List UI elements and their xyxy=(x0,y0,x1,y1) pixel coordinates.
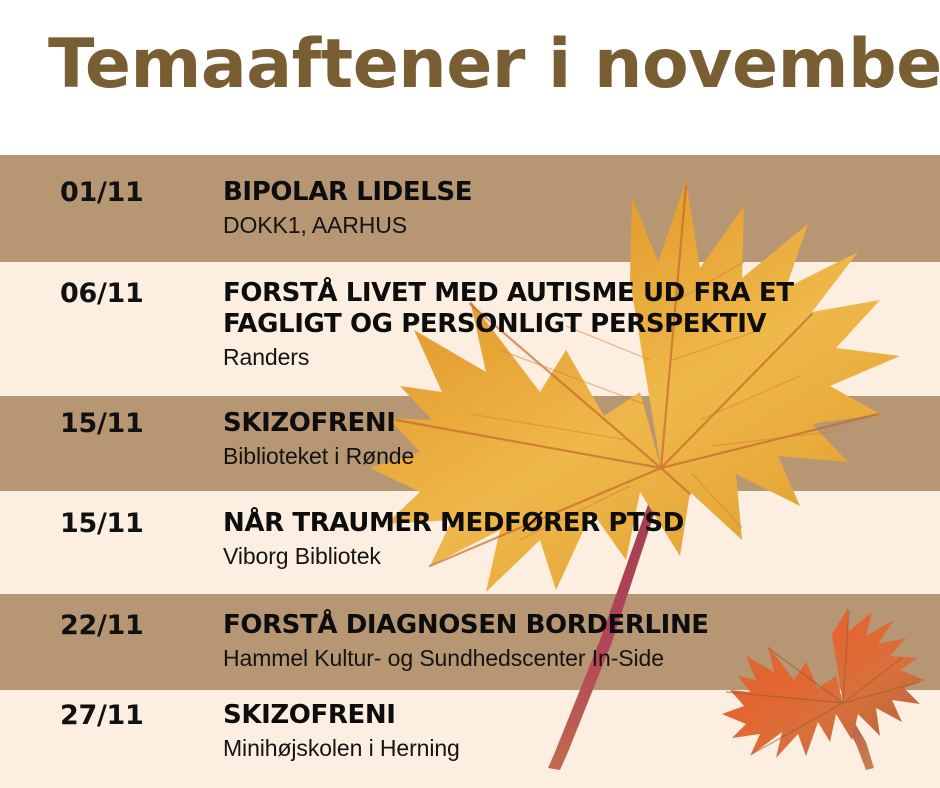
schedule-text-layer: 01/11 BIPOLAR LIDELSE DOKK1, AARHUS 06/1… xyxy=(0,0,940,788)
event-details: SKIZOFRENI Minihøjskolen i Herning xyxy=(223,700,930,763)
event-date: 15/11 xyxy=(60,508,210,539)
poster-canvas: Temaaftener i november 01/11 BIPOLAR LID… xyxy=(0,0,940,788)
event-venue: Randers xyxy=(223,343,930,372)
event-details: FORSTÅ LIVET MED AUTISME UD FRA ET FAGLI… xyxy=(223,278,930,372)
event-date: 15/11 xyxy=(60,408,210,439)
event-venue: Viborg Bibliotek xyxy=(223,542,930,571)
event-details: SKIZOFRENI Biblioteket i Rønde xyxy=(223,408,930,471)
event-title: BIPOLAR LIDELSE xyxy=(223,177,930,208)
event-title: SKIZOFRENI xyxy=(223,700,930,731)
event-title: FORSTÅ DIAGNOSEN BORDERLINE xyxy=(223,610,930,641)
event-date: 22/11 xyxy=(60,610,210,641)
event-date: 27/11 xyxy=(60,700,210,731)
event-details: FORSTÅ DIAGNOSEN BORDERLINE Hammel Kultu… xyxy=(223,610,930,673)
event-title: FORSTÅ LIVET MED AUTISME UD FRA ET FAGLI… xyxy=(223,278,930,340)
event-details: BIPOLAR LIDELSE DOKK1, AARHUS xyxy=(223,177,930,240)
event-date: 01/11 xyxy=(60,177,210,208)
event-venue: Hammel Kultur- og Sundhedscenter In-Side xyxy=(223,644,930,673)
event-date: 06/11 xyxy=(60,278,210,309)
event-venue: DOKK1, AARHUS xyxy=(223,211,930,240)
event-venue: Biblioteket i Rønde xyxy=(223,442,930,471)
event-title: SKIZOFRENI xyxy=(223,408,930,439)
event-details: NÅR TRAUMER MEDFØRER PTSD Viborg Bibliot… xyxy=(223,508,930,571)
event-venue: Minihøjskolen i Herning xyxy=(223,734,930,763)
event-title: NÅR TRAUMER MEDFØRER PTSD xyxy=(223,508,930,539)
